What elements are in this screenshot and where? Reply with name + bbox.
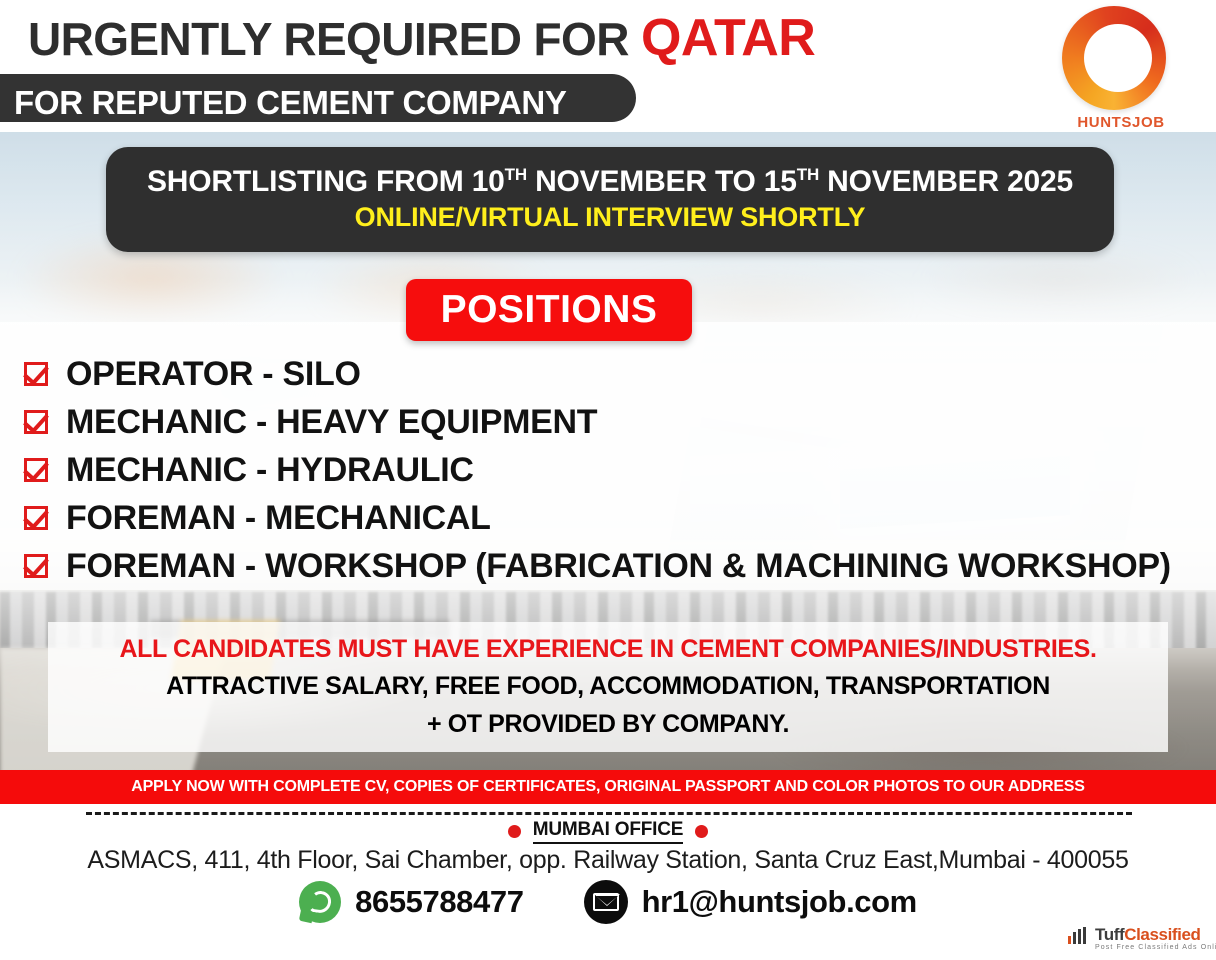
shortlisting-date-banner: SHORTLISTING FROM 10TH NOVEMBER TO 15TH … — [106, 147, 1114, 252]
whatsapp-number[interactable]: 8655788477 — [355, 884, 523, 920]
dates-ordinal-second: TH — [797, 165, 819, 184]
email-address[interactable]: hr1@huntsjob.com — [642, 884, 917, 920]
dates-part-c: NOVEMBER 2025 — [819, 165, 1073, 198]
logo-arc-decoration — [1084, 24, 1152, 92]
company-logo: HUNTSJOB — [1058, 6, 1184, 130]
position-label: FOREMAN - MECHANICAL — [66, 499, 491, 538]
watermark-name: TuffClassified — [1095, 925, 1201, 945]
apply-instructions-banner: APPLY NOW WITH COMPLETE CV, COPIES OF CE… — [0, 770, 1216, 804]
office-label: MUMBAI OFFICE — [533, 819, 683, 844]
email-contact[interactable]: hr1@huntsjob.com — [584, 880, 917, 924]
list-item: MECHANIC - HYDRAULIC — [24, 446, 1216, 494]
dates-ordinal-first: TH — [505, 165, 527, 184]
whatsapp-icon[interactable] — [299, 881, 341, 923]
poster-header: URGENTLY REQUIRED FOR QATAR FOR REPUTED … — [0, 0, 1216, 132]
headline-main-text: URGENTLY REQUIRED FOR — [28, 13, 641, 65]
logo-wordmark: HUNTSJOB — [1058, 114, 1184, 131]
positions-heading-pill: POSITIONS — [406, 279, 692, 341]
benefits-line-2: + OT PROVIDED BY COMPANY. — [427, 706, 789, 744]
positions-list: OPERATOR - SILO MECHANIC - HEAVY EQUIPME… — [24, 350, 1216, 590]
position-label: MECHANIC - HYDRAULIC — [66, 451, 474, 490]
bullet-dot-icon-right — [695, 825, 708, 838]
envelope-icon[interactable] — [584, 880, 628, 924]
benefits-line-1: ATTRACTIVE SALARY, FREE FOOD, ACCOMMODAT… — [166, 668, 1050, 706]
page-title: URGENTLY REQUIRED FOR QATAR — [28, 8, 815, 68]
office-address: ASMACS, 411, 4th Floor, Sai Chamber, opp… — [0, 846, 1216, 875]
job-advertisement-poster: URGENTLY REQUIRED FOR QATAR FOR REPUTED … — [0, 0, 1216, 960]
requirements-panel: ALL CANDIDATES MUST HAVE EXPERIENCE IN C… — [48, 622, 1168, 752]
bullet-dot-icon-left — [508, 825, 521, 838]
watermark-name-part1: Tuff — [1095, 925, 1124, 944]
headline-country-text: QATAR — [641, 9, 815, 67]
office-heading: MUMBAI OFFICE — [0, 818, 1216, 844]
bar-chart-icon — [1068, 927, 1092, 944]
experience-requirement-text: ALL CANDIDATES MUST HAVE EXPERIENCE IN C… — [120, 631, 1097, 669]
interview-mode-text: ONLINE/VIRTUAL INTERVIEW SHORTLY — [355, 202, 866, 233]
list-item: MECHANIC - HEAVY EQUIPMENT — [24, 398, 1216, 446]
dates-part-b: NOVEMBER TO 15 — [527, 165, 797, 198]
shortlisting-dates-text: SHORTLISTING FROM 10TH NOVEMBER TO 15TH … — [147, 166, 1073, 198]
watermark-tagline: Post Free Classified Ads Online — [1095, 944, 1216, 951]
dates-part-a: SHORTLISTING FROM 10 — [147, 165, 505, 198]
position-label: FOREMAN - WORKSHOP (FABRICATION & MACHIN… — [66, 547, 1171, 586]
tuffclassified-watermark: TuffClassified Post Free Classified Ads … — [1068, 925, 1208, 955]
list-item: FOREMAN - MECHANICAL — [24, 494, 1216, 542]
contact-row: 8655788477 hr1@huntsjob.com — [0, 878, 1216, 926]
subheadline-text: FOR REPUTED CEMENT COMPANY — [14, 84, 567, 122]
checkbox-checked-icon — [24, 410, 48, 434]
list-item: OPERATOR - SILO — [24, 350, 1216, 398]
whatsapp-contact[interactable]: 8655788477 — [299, 881, 523, 923]
position-label: MECHANIC - HEAVY EQUIPMENT — [66, 403, 597, 442]
checkbox-checked-icon — [24, 554, 48, 578]
apply-instructions-text: APPLY NOW WITH COMPLETE CV, COPIES OF CE… — [131, 778, 1085, 796]
checkbox-checked-icon — [24, 362, 48, 386]
position-label: OPERATOR - SILO — [66, 355, 361, 394]
watermark-name-part2: Classified — [1124, 925, 1200, 944]
positions-heading-label: POSITIONS — [441, 288, 658, 332]
checkbox-checked-icon — [24, 506, 48, 530]
list-item: FOREMAN - WORKSHOP (FABRICATION & MACHIN… — [24, 542, 1216, 590]
huntsjob-logo-icon — [1062, 6, 1166, 110]
checkbox-checked-icon — [24, 458, 48, 482]
dashed-divider — [86, 812, 1132, 815]
